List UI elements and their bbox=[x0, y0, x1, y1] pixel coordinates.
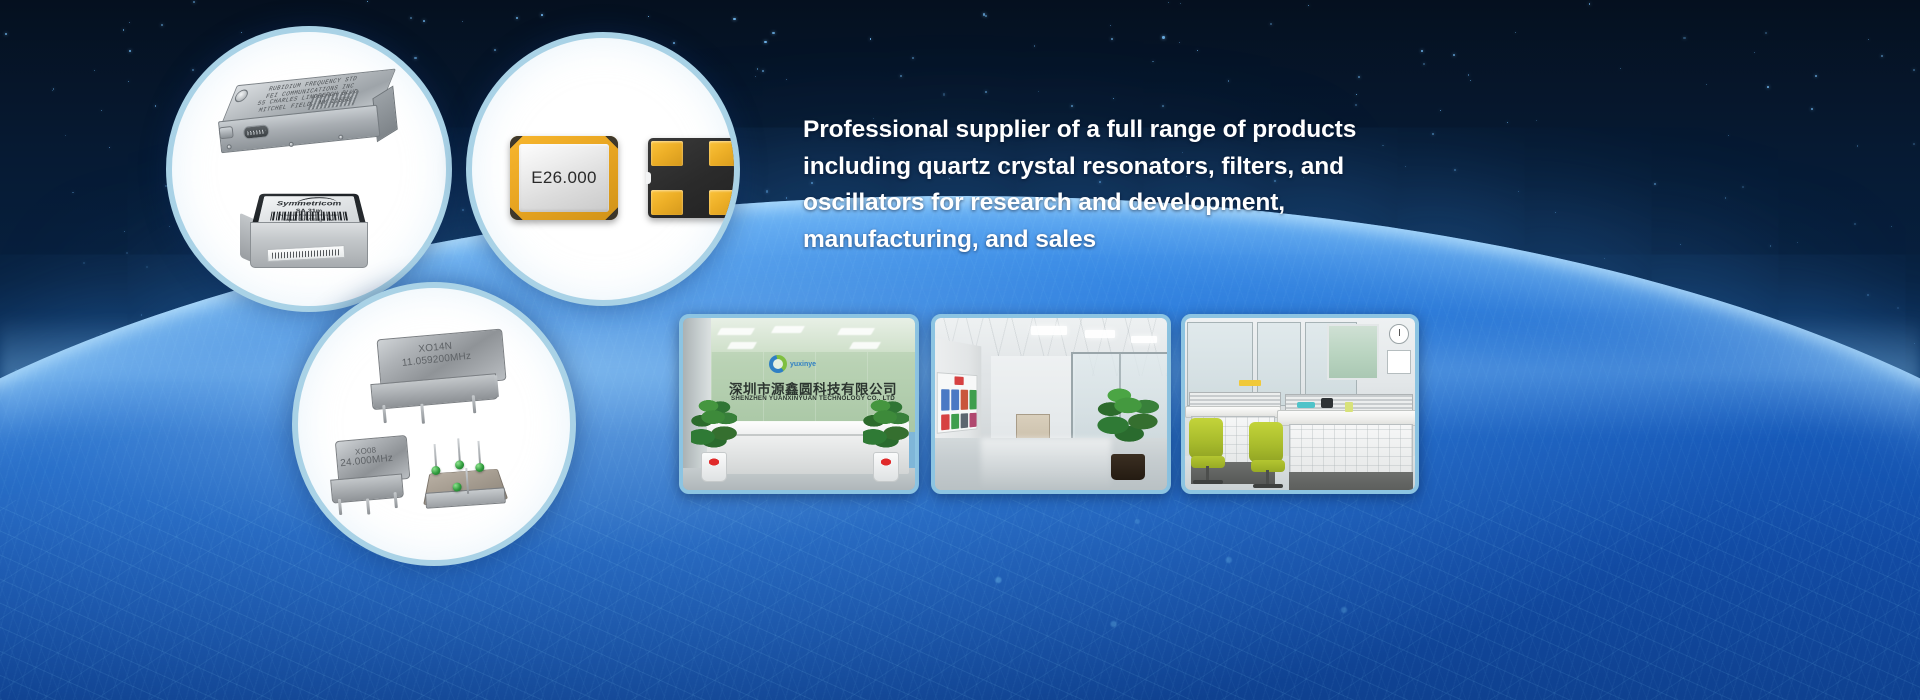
fe5680a-module: RUBIDIUM FREQUENCY STD FEI COMMUNICATION… bbox=[212, 69, 403, 166]
desk-item-icon bbox=[1297, 402, 1315, 408]
plant-pot-icon bbox=[1111, 454, 1145, 480]
company-logo-text: yuxinye bbox=[790, 361, 816, 368]
company-logo-mark-icon bbox=[769, 355, 787, 373]
dip-oscillator-pins-up bbox=[419, 435, 510, 521]
potted-plant-icon bbox=[863, 398, 909, 482]
symmetricom-sa31m-module: Symmetricom SA.31m Miniature Rubidium Os… bbox=[240, 168, 378, 278]
screw-icon bbox=[289, 142, 294, 147]
red-ribbon-icon bbox=[708, 458, 720, 466]
product-circle-smd-content: E26.000 bbox=[472, 38, 734, 300]
wall-clock-icon bbox=[1389, 324, 1409, 344]
dip-pin-icon bbox=[420, 404, 425, 424]
sa31m-front-face bbox=[250, 222, 368, 268]
photo-thumbnail-office[interactable] bbox=[1181, 314, 1419, 494]
org-chart-node bbox=[961, 413, 968, 428]
solder-pad-icon bbox=[651, 141, 683, 166]
potted-plant-icon bbox=[691, 398, 737, 482]
org-chart-node bbox=[941, 389, 949, 411]
sa31m-side-sticker bbox=[267, 245, 346, 262]
ceiling-light-icon bbox=[837, 328, 875, 335]
plant-pot-icon bbox=[873, 452, 899, 482]
cubicle-divider bbox=[1289, 424, 1413, 476]
ceiling-light-icon bbox=[1085, 330, 1115, 338]
ceiling-light-icon bbox=[849, 342, 881, 349]
ceiling-light-icon bbox=[771, 326, 805, 333]
product-circle-rubidium-content: RUBIDIUM FREQUENCY STD FEI COMMUNICATION… bbox=[172, 32, 446, 306]
sma-connector-icon bbox=[219, 126, 234, 139]
desk-bag-icon bbox=[1321, 398, 1333, 408]
product-circle-dip-content: XO14N 11.059200MHz XO08 24.000MHz bbox=[298, 288, 570, 560]
corridor-scene bbox=[935, 318, 1167, 490]
smd-crystal-lid: E26.000 bbox=[519, 144, 609, 212]
smd-crystal-top-view: E26.000 bbox=[510, 136, 618, 220]
organization-chart-poster bbox=[937, 372, 977, 434]
plant-leaves-icon bbox=[691, 396, 737, 458]
company-hero-banner: RUBIDIUM FREQUENCY STD FEI COMMUNICATION… bbox=[0, 0, 1920, 700]
org-chart-node bbox=[954, 376, 963, 385]
product-circle-smd-crystal[interactable]: E26.000 bbox=[466, 32, 740, 306]
ceiling-light-icon bbox=[717, 328, 755, 335]
photo-thumbnail-reception[interactable]: yuxinye 深圳市源鑫圆科技有限公司 SHENZHEN YUANXINYUA… bbox=[679, 314, 919, 494]
org-chart-node bbox=[970, 413, 977, 428]
org-chart-node bbox=[951, 414, 959, 430]
potted-plant-icon bbox=[1097, 388, 1159, 480]
org-chart-node bbox=[970, 390, 977, 410]
reception-scene: yuxinye 深圳市源鑫圆科技有限公司 SHENZHEN YUANXINYUA… bbox=[683, 318, 915, 490]
company-logo: yuxinye bbox=[769, 354, 857, 374]
product-circle-rubidium[interactable]: RUBIDIUM FREQUENCY STD FEI COMMUNICATION… bbox=[166, 26, 452, 312]
ceiling-light-icon bbox=[1131, 336, 1157, 343]
banner-headline: Professional supplier of a full range of… bbox=[803, 112, 1413, 258]
chair-back bbox=[1249, 422, 1283, 462]
xo14n-oscillator: XO14N 11.059200MHz bbox=[367, 328, 516, 426]
red-ribbon-icon bbox=[880, 458, 892, 466]
office-window bbox=[1327, 324, 1379, 380]
barcode-icon bbox=[270, 212, 348, 221]
glass-seal-icon bbox=[455, 460, 465, 470]
office-scene bbox=[1185, 318, 1415, 490]
chair-base bbox=[1193, 480, 1223, 484]
wall-sign-icon bbox=[1387, 350, 1411, 374]
desk-item-icon bbox=[1345, 402, 1353, 412]
cubicle-base bbox=[1289, 472, 1413, 490]
smd-crystal-bottom-view bbox=[648, 138, 740, 218]
solder-pad-icon bbox=[709, 141, 740, 166]
dip-pin-icon bbox=[366, 498, 370, 514]
ceiling-light-icon bbox=[1031, 326, 1067, 335]
smd-crystal-marking: E26.000 bbox=[531, 168, 596, 188]
org-chart-node bbox=[951, 389, 959, 410]
chair-back bbox=[1189, 418, 1223, 458]
plant-leaves-icon bbox=[1097, 388, 1159, 450]
sa31m-brand: Symmetricom bbox=[262, 200, 356, 207]
ceiling-light-icon bbox=[727, 342, 757, 349]
plant-leaves-icon bbox=[863, 396, 909, 458]
desk-item-icon bbox=[1239, 380, 1261, 386]
network-glow-overlay bbox=[0, 500, 1920, 700]
xo08-oscillator: XO08 24.000MHz bbox=[327, 434, 419, 517]
solder-pad-icon bbox=[651, 190, 683, 215]
product-circle-dip-oscillator[interactable]: XO14N 11.059200MHz XO08 24.000MHz bbox=[292, 282, 576, 566]
pin1-notch-icon bbox=[646, 172, 651, 184]
photo-thumbnail-corridor[interactable] bbox=[931, 314, 1171, 494]
plant-pot-icon bbox=[701, 452, 727, 482]
org-chart-node bbox=[961, 390, 968, 410]
chair-base bbox=[1253, 484, 1283, 488]
org-chart-node bbox=[941, 414, 949, 430]
